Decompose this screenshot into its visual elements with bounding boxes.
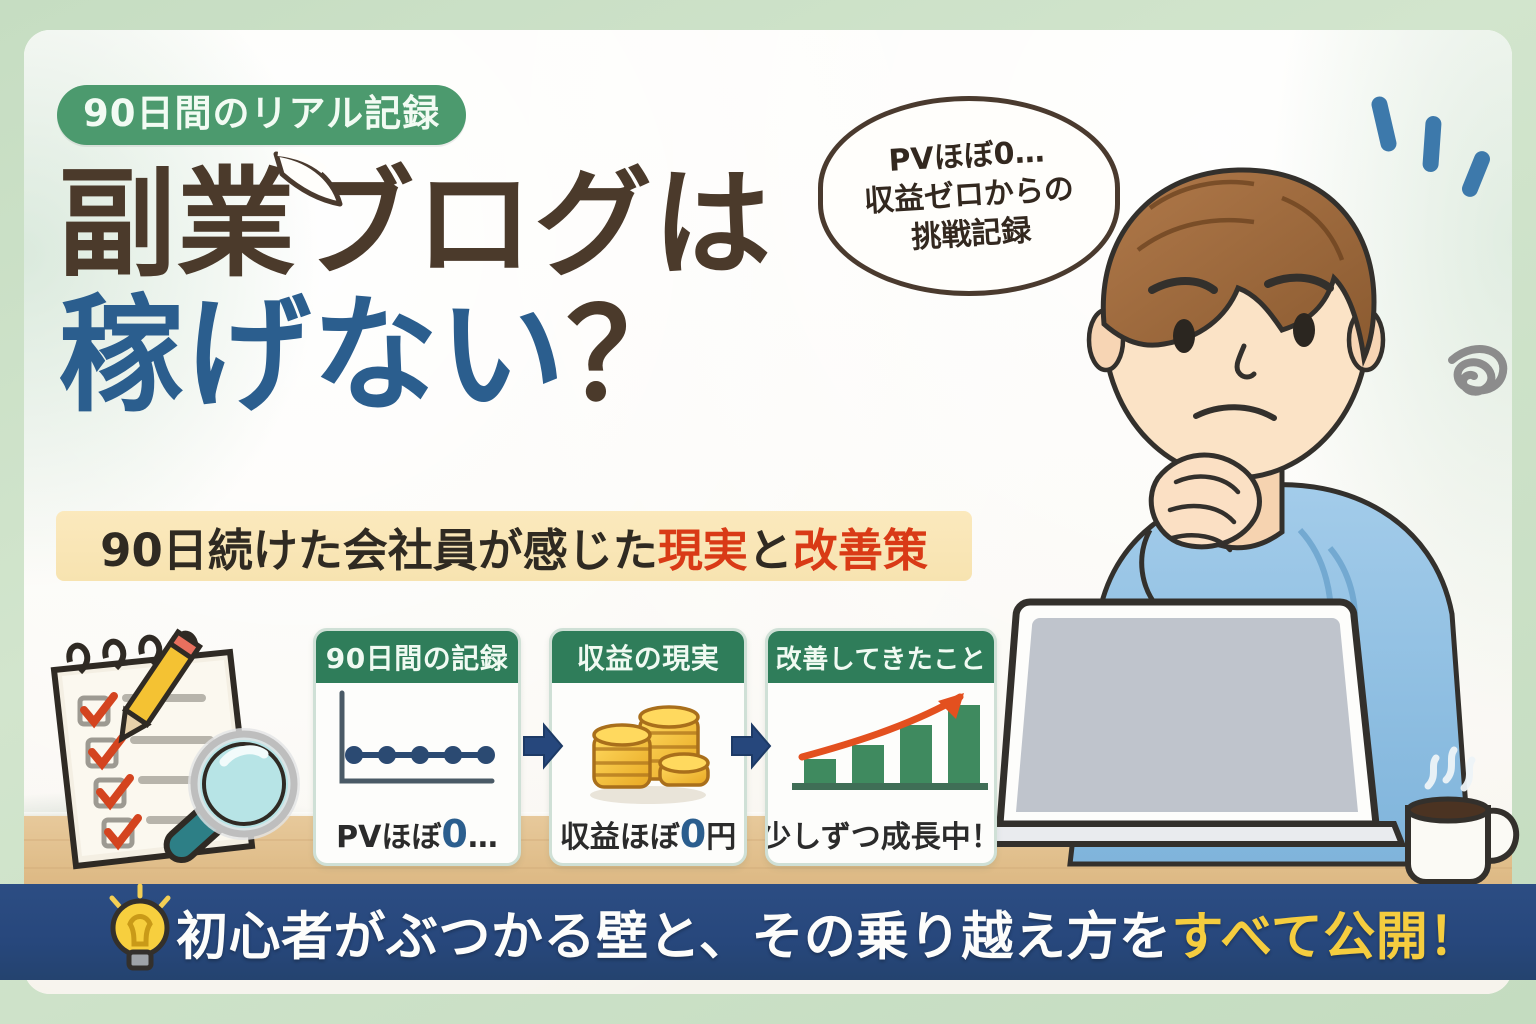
subtitle-highlight-2: 改善策 — [793, 524, 928, 577]
speech-bubble-line-2: 収益ゼロからの — [863, 175, 1074, 218]
coin-stack-left — [594, 725, 650, 787]
card-revenue-caption-text: 収益ほぼ0円 — [560, 812, 736, 856]
page-title: 副業ブログは 稼げない？ — [58, 165, 918, 419]
coin-single — [660, 754, 708, 785]
card-improvement: 改善してきたこと 少しずつ成長中！ — [765, 628, 997, 866]
card-record: 90日間の記録 PVほぼ0… — [313, 628, 521, 866]
title-line-2-main: 稼げない — [58, 282, 566, 429]
caption-zero: 0 — [441, 812, 467, 856]
subtitle-part-2: と — [748, 524, 793, 577]
speech-bubble: PVほぼ0… 収益ゼロからの 挑戦記録 — [818, 96, 1120, 296]
caption-prefix: 収益ほぼ — [560, 820, 680, 855]
card-revenue-header: 収益の現実 — [552, 631, 744, 683]
speech-bubble-text: PVほぼ0… 収益ゼロからの 挑戦記録 — [817, 92, 1120, 299]
caption-suffix: … — [468, 820, 498, 855]
coffee-surface — [1408, 799, 1488, 821]
eye-left — [1173, 319, 1195, 353]
card-improvement-caption: 少しずつ成長中！ — [768, 803, 994, 865]
card-revenue: 収益の現実 — [549, 628, 747, 866]
subtitle-highlight-1: 現実 — [658, 524, 748, 577]
speech-bubble-line-3: 挑戦記録 — [911, 216, 1033, 253]
record-badge-label: 90日間のリアル記録 — [83, 95, 440, 132]
flow-arrow-1 — [522, 723, 564, 769]
card-revenue-caption: 収益ほぼ0円 — [552, 803, 744, 865]
subtitle-text: 90日続けた会社員が感じた現実と改善策 — [100, 514, 928, 579]
laptop-back-panel — [1016, 618, 1358, 812]
title-line-2: 稼げない？ — [58, 293, 918, 419]
card-improvement-header-label: 改善してきたこと — [776, 639, 986, 676]
speech-bubble-line-1: PVほぼ0… — [888, 137, 1046, 176]
subtitle-part-1: 90日続けた会社員が感じた — [100, 524, 658, 577]
bottom-banner-highlight: すべて公開！ — [1171, 908, 1480, 968]
bulb-glass — [113, 901, 167, 955]
card-revenue-body — [552, 683, 744, 803]
speech-bubble-tail — [272, 150, 346, 212]
card-improvement-caption-text: 少しずつ成長中！ — [765, 812, 997, 856]
laptop-base — [986, 824, 1402, 844]
bottom-banner-main: 初心者がぶつかる壁と、その乗り越え方を — [176, 908, 1171, 968]
poster-canvas: 90日間のリアル記録 副業ブログは 稼げない？ PVほぼ0… 収益ゼロからの 挑… — [0, 0, 1536, 1024]
flow-arrow-2 — [730, 723, 772, 769]
caption-zero: 0 — [680, 812, 706, 856]
flat-line-chart-icon — [316, 683, 518, 803]
process-cards: 90日間の記録 PVほぼ0… 収益の現実 — [313, 628, 1003, 868]
growth-bar-chart-icon — [768, 683, 994, 803]
subtitle-band: 90日続けた会社員が感じた現実と改善策 — [56, 511, 972, 581]
caption-suffix: ！ — [971, 820, 997, 855]
bottom-banner-text: 初心者がぶつかる壁と、その乗り越え方をすべて公開！ — [176, 895, 1481, 970]
coffee-mug-illustration — [1380, 762, 1530, 890]
caption-prefix: 少しずつ成長中 — [765, 820, 971, 855]
card-record-caption-text: PVほぼ0… — [336, 812, 498, 856]
laptop-illustration — [986, 588, 1406, 868]
coin-stack-icon — [552, 683, 744, 803]
exclamation-marks-icon — [1370, 95, 1493, 199]
caption-suffix: 円 — [706, 820, 736, 855]
card-record-caption: PVほぼ0… — [316, 803, 518, 865]
card-record-header-label: 90日間の記録 — [326, 637, 508, 677]
title-question-mark: ？ — [566, 282, 693, 429]
card-record-body — [316, 683, 518, 803]
card-improvement-body — [768, 683, 994, 803]
spiral-swirl-icon — [1452, 349, 1503, 392]
title-line-1: 副業ブログは — [58, 165, 918, 283]
lightbulb-icon — [100, 884, 180, 984]
bottom-banner: 初心者がぶつかる壁と、その乗り越え方をすべて公開！ — [0, 884, 1536, 980]
eye-right — [1293, 313, 1315, 347]
record-badge: 90日間のリアル記録 — [57, 85, 466, 145]
card-improvement-header: 改善してきたこと — [768, 631, 994, 683]
chart-bars — [804, 705, 980, 783]
card-revenue-header-label: 収益の現実 — [577, 637, 720, 677]
checklist-notepad-illustration — [26, 636, 326, 882]
chart-baseline — [792, 783, 988, 790]
hand — [1151, 455, 1259, 547]
caption-prefix: PVほぼ — [336, 820, 441, 855]
bulb-base — [129, 952, 151, 968]
chart-axes — [342, 693, 492, 781]
card-record-header: 90日間の記録 — [316, 631, 518, 683]
